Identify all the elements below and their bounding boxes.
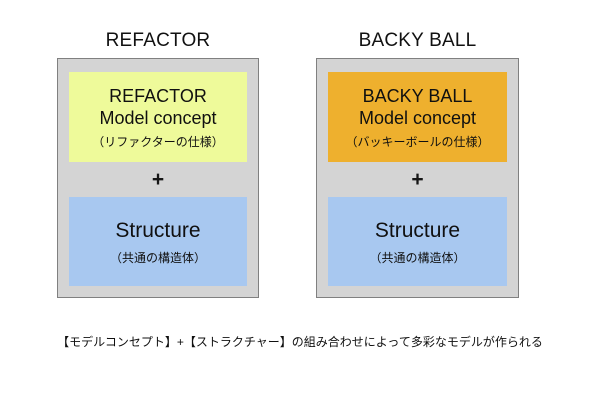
structure-box-refactor: Structure （共通の構造体） xyxy=(69,197,247,286)
structure-title-refactor: Structure xyxy=(115,218,200,243)
concept-title-line1: BACKY BALL xyxy=(363,86,473,106)
structure-subtitle-backy-ball: （共通の構造体） xyxy=(369,250,465,266)
concept-subtitle-refactor: （リファクターの仕様） xyxy=(92,134,224,150)
plus-icon-refactor: + xyxy=(58,165,258,195)
concept-title-backy-ball: BACKY BALL Model concept xyxy=(359,85,476,129)
structure-subtitle-refactor: （共通の構造体） xyxy=(110,250,206,266)
panel-backy-ball: BACKY BALL Model concept （バッキーボールの仕様） + … xyxy=(316,58,519,298)
concept-title-line2: Model concept xyxy=(99,108,216,128)
concept-box-backy-ball: BACKY BALL Model concept （バッキーボールの仕様） xyxy=(328,72,507,162)
concept-title-line2: Model concept xyxy=(359,108,476,128)
concept-title-line1: REFACTOR xyxy=(109,86,207,106)
figure-caption: 【モデルコンセプト】+【ストラクチャー】の組み合わせによって多彩なモデルが作られ… xyxy=(0,333,600,351)
diagram-root: REFACTOR REFACTOR Model concept （リファクターの… xyxy=(0,0,600,400)
concept-title-refactor: REFACTOR Model concept xyxy=(99,85,216,129)
panel-refactor: REFACTOR Model concept （リファクターの仕様） + Str… xyxy=(57,58,259,298)
column-title-backy-ball: BACKY BALL xyxy=(316,28,519,54)
structure-box-backy-ball: Structure （共通の構造体） xyxy=(328,197,507,286)
concept-box-refactor: REFACTOR Model concept （リファクターの仕様） xyxy=(69,72,247,162)
concept-subtitle-backy-ball: （バッキーボールの仕様） xyxy=(345,134,489,150)
column-title-refactor: REFACTOR xyxy=(57,28,259,54)
structure-title-backy-ball: Structure xyxy=(375,218,460,243)
plus-icon-backy-ball: + xyxy=(317,165,518,195)
